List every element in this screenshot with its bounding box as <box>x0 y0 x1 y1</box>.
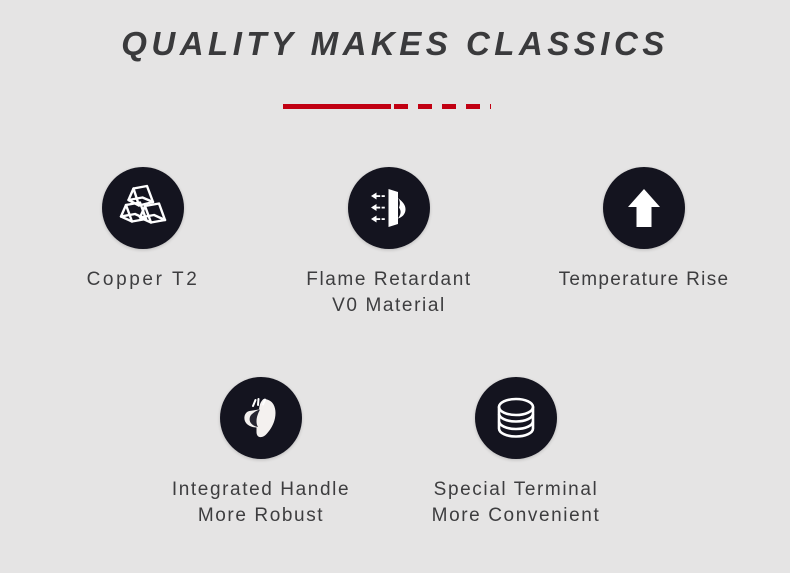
feature-caption-line2: More Convenient <box>401 503 631 529</box>
feature-caption-line1: Temperature Rise <box>559 269 730 290</box>
page-title: QUALITY MAKES CLASSICS <box>0 25 790 63</box>
feature-integrated-handle: Integrated Handle More Robust <box>146 377 376 529</box>
feature-caption-line2: More Robust <box>146 503 376 529</box>
icon-badge <box>603 167 685 249</box>
icon-badge <box>220 377 302 459</box>
up-arrow-icon <box>620 184 668 232</box>
copper-ingots-icon <box>117 182 169 234</box>
feature-caption-line1: Special Terminal <box>434 479 599 500</box>
flame-retardant-barrier-icon <box>362 181 416 235</box>
icon-badge <box>348 167 430 249</box>
flexed-bicep-icon <box>233 390 289 446</box>
divider-solid-segment <box>283 104 391 109</box>
feature-caption-line2: V0 Material <box>274 293 504 319</box>
feature-copper-t2: Copper T2 <box>28 167 258 293</box>
feature-caption-line1: Integrated Handle <box>172 479 350 500</box>
feature-caption: Flame Retardant V0 Material <box>274 267 504 319</box>
feature-caption: Copper T2 <box>28 267 258 293</box>
feature-temperature-rise: Temperature Rise <box>529 167 759 293</box>
feature-caption: Temperature Rise <box>529 267 759 293</box>
feature-caption-line1: Flame Retardant <box>306 269 472 290</box>
icon-badge <box>475 377 557 459</box>
feature-caption-line1: Copper T2 <box>87 269 200 290</box>
feature-caption: Special Terminal More Convenient <box>401 477 631 529</box>
product-feature-banner: QUALITY MAKES CLASSICS <box>0 0 790 573</box>
stacked-cylinder-terminal-icon <box>490 392 542 444</box>
divider <box>283 104 491 109</box>
icon-badge <box>102 167 184 249</box>
divider-dashed-segment <box>394 104 491 109</box>
feature-caption: Integrated Handle More Robust <box>146 477 376 529</box>
feature-special-terminal: Special Terminal More Convenient <box>401 377 631 529</box>
feature-flame-retardant: Flame Retardant V0 Material <box>274 167 504 319</box>
